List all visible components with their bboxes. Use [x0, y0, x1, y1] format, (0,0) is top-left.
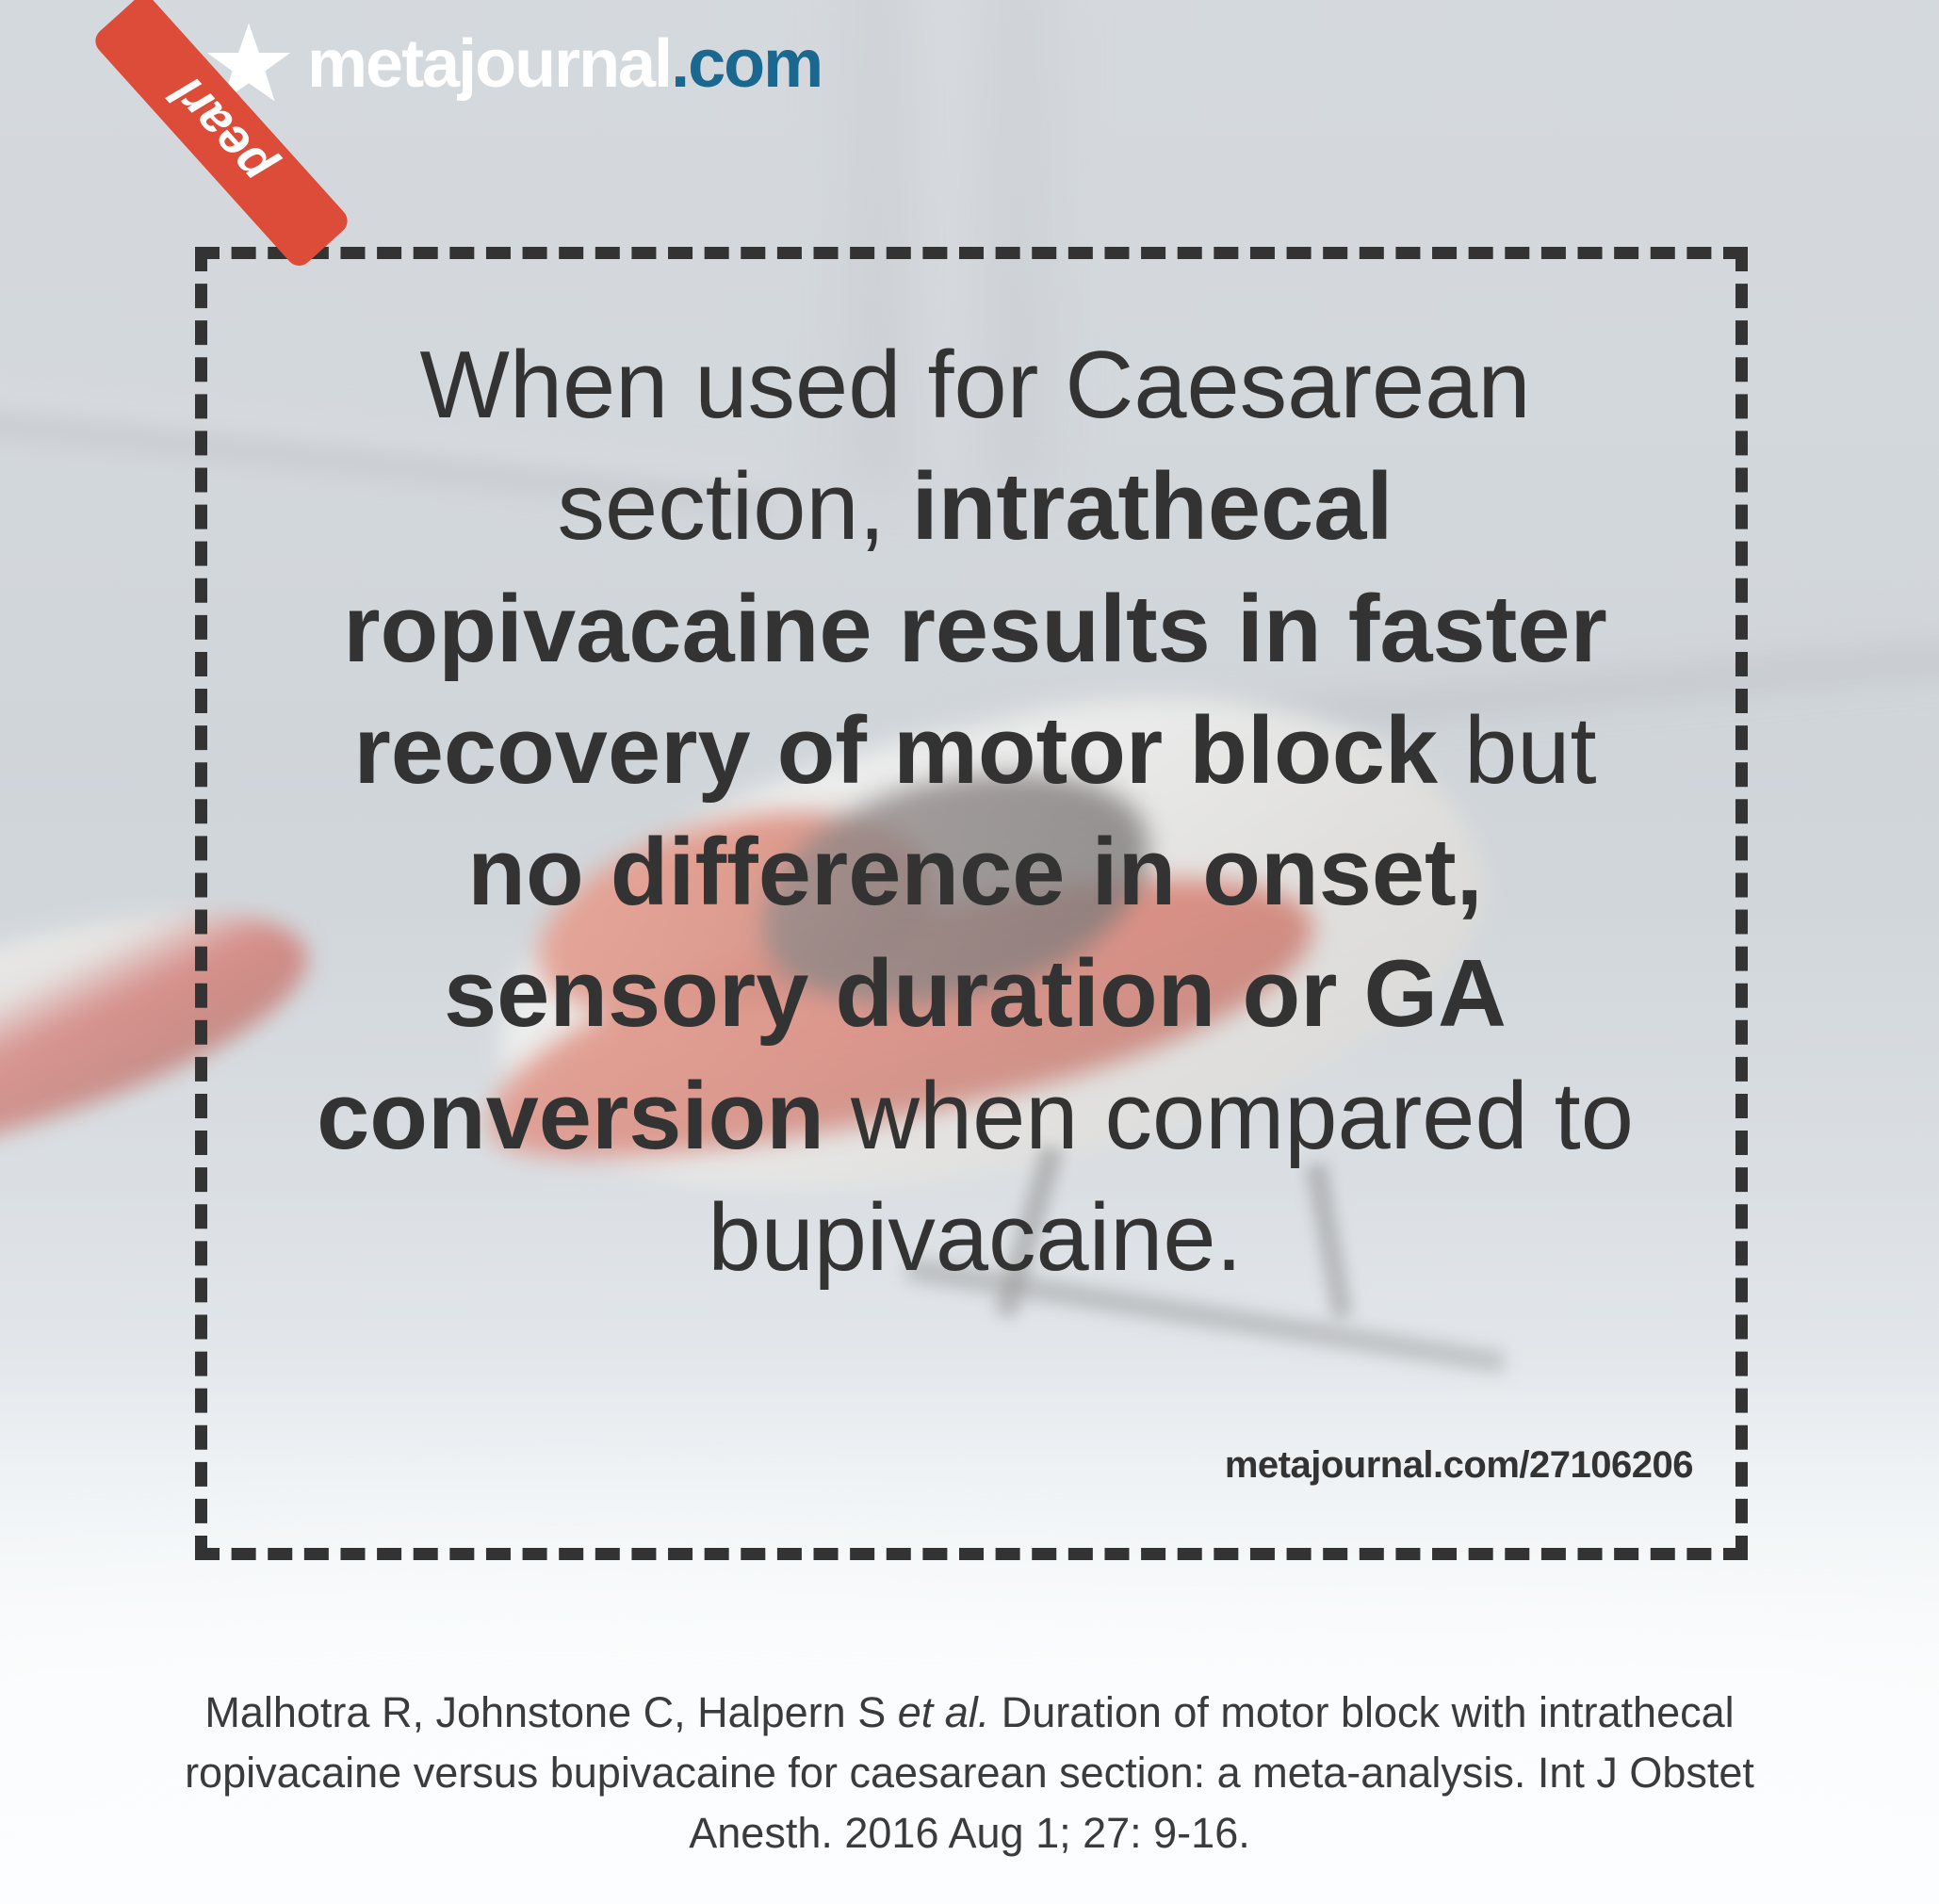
citation-text: Malhotra R, Johnstone C, Halpern S et al… [160, 1683, 1779, 1863]
site-logo[interactable]: metajournal.com [205, 21, 822, 107]
pearl-quote: When used for Caesarean section, intrath… [283, 325, 1668, 1299]
pearl-card: metajournal.com pearl When used for Caes… [0, 0, 1939, 1904]
quote-segment-1: intrathecal ropivacaine results in faste… [343, 454, 1607, 804]
quote-segment-2: but [1438, 698, 1596, 804]
citation-authors: Malhotra R, Johnstone C, Halpern S [204, 1688, 897, 1736]
citation-etal: et al. [898, 1688, 990, 1736]
quote-segment-4: when compared to bupivacaine. [708, 1064, 1634, 1291]
logo-name: metajournal [307, 26, 671, 102]
pearl-permalink[interactable]: metajournal.com/27106206 [195, 1444, 1693, 1487]
logo-tld: .com [671, 26, 822, 102]
logo-wordmark: metajournal.com [307, 30, 822, 98]
